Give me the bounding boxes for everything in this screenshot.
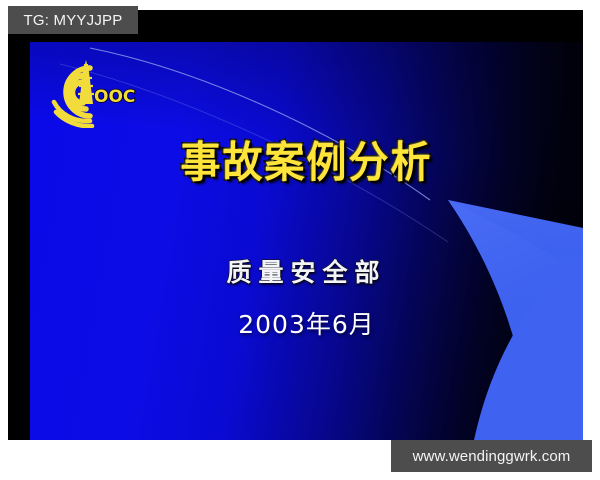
page-canvas: OOC 事故案例分析 质量安全部 2003年6月 TG: MYYJJPP www…: [0, 0, 600, 480]
slide-subtitle: 质量安全部: [226, 258, 386, 288]
cnooc-wordmark: OOC: [94, 87, 135, 107]
cnooc-logo-icon: OOC: [46, 58, 142, 128]
slide-date: 2003年6月: [238, 310, 375, 340]
watermark-top-left-text: TG: MYYJJPP: [24, 12, 123, 29]
slide-subtitle-container: 质量安全部: [30, 258, 583, 288]
slide-frame: OOC 事故案例分析 质量安全部 2003年6月: [8, 10, 583, 440]
watermark-bottom-right-text: www.wendinggwrk.com: [413, 448, 571, 465]
slide-title-slide: OOC 事故案例分析 质量安全部 2003年6月: [30, 42, 583, 440]
watermark-bottom-right: www.wendinggwrk.com: [391, 440, 592, 472]
slide-date-container: 2003年6月: [30, 310, 583, 340]
watermark-top-left: TG: MYYJJPP: [8, 6, 138, 34]
